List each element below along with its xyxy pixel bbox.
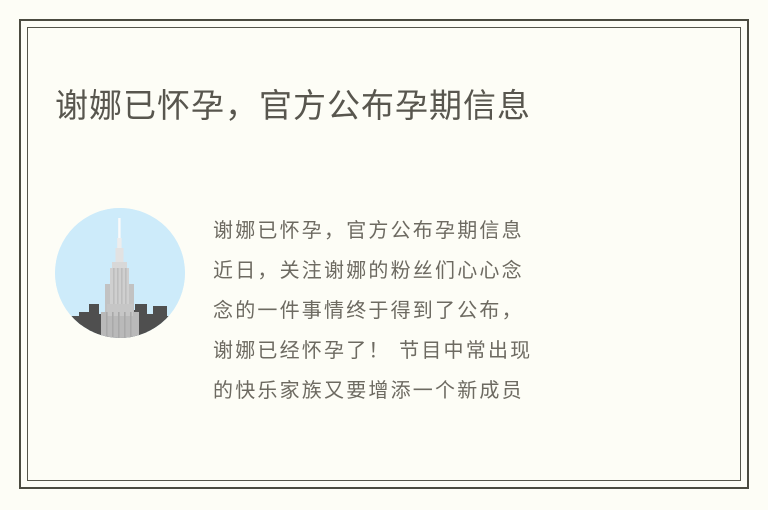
article-body: 谢娜已怀孕，官方公布孕期信息 近日，关注谢娜的粉丝们心心念 念的一件事情终于得到… — [213, 200, 532, 410]
article-thumbnail — [55, 208, 185, 338]
article-body-line: 谢娜已怀孕，官方公布孕期信息 — [213, 210, 532, 250]
article-card: 谢娜已怀孕，官方公布孕期信息 — [0, 0, 768, 510]
empire-state-building-icon — [55, 208, 185, 338]
article-body-line: 谢娜已经怀孕了！ 节目中常出现 — [213, 330, 532, 370]
article-content: 谢娜已怀孕，官方公布孕期信息 近日，关注谢娜的粉丝们心心念 念的一件事情终于得到… — [55, 200, 708, 410]
page-title: 谢娜已怀孕，官方公布孕期信息 — [55, 84, 531, 128]
article-body-line: 近日，关注谢娜的粉丝们心心念 — [213, 250, 532, 290]
article-body-line: 念的一件事情终于得到了公布， — [213, 290, 532, 330]
article-body-line: 的快乐家族又要增添一个新成员 — [213, 370, 532, 410]
